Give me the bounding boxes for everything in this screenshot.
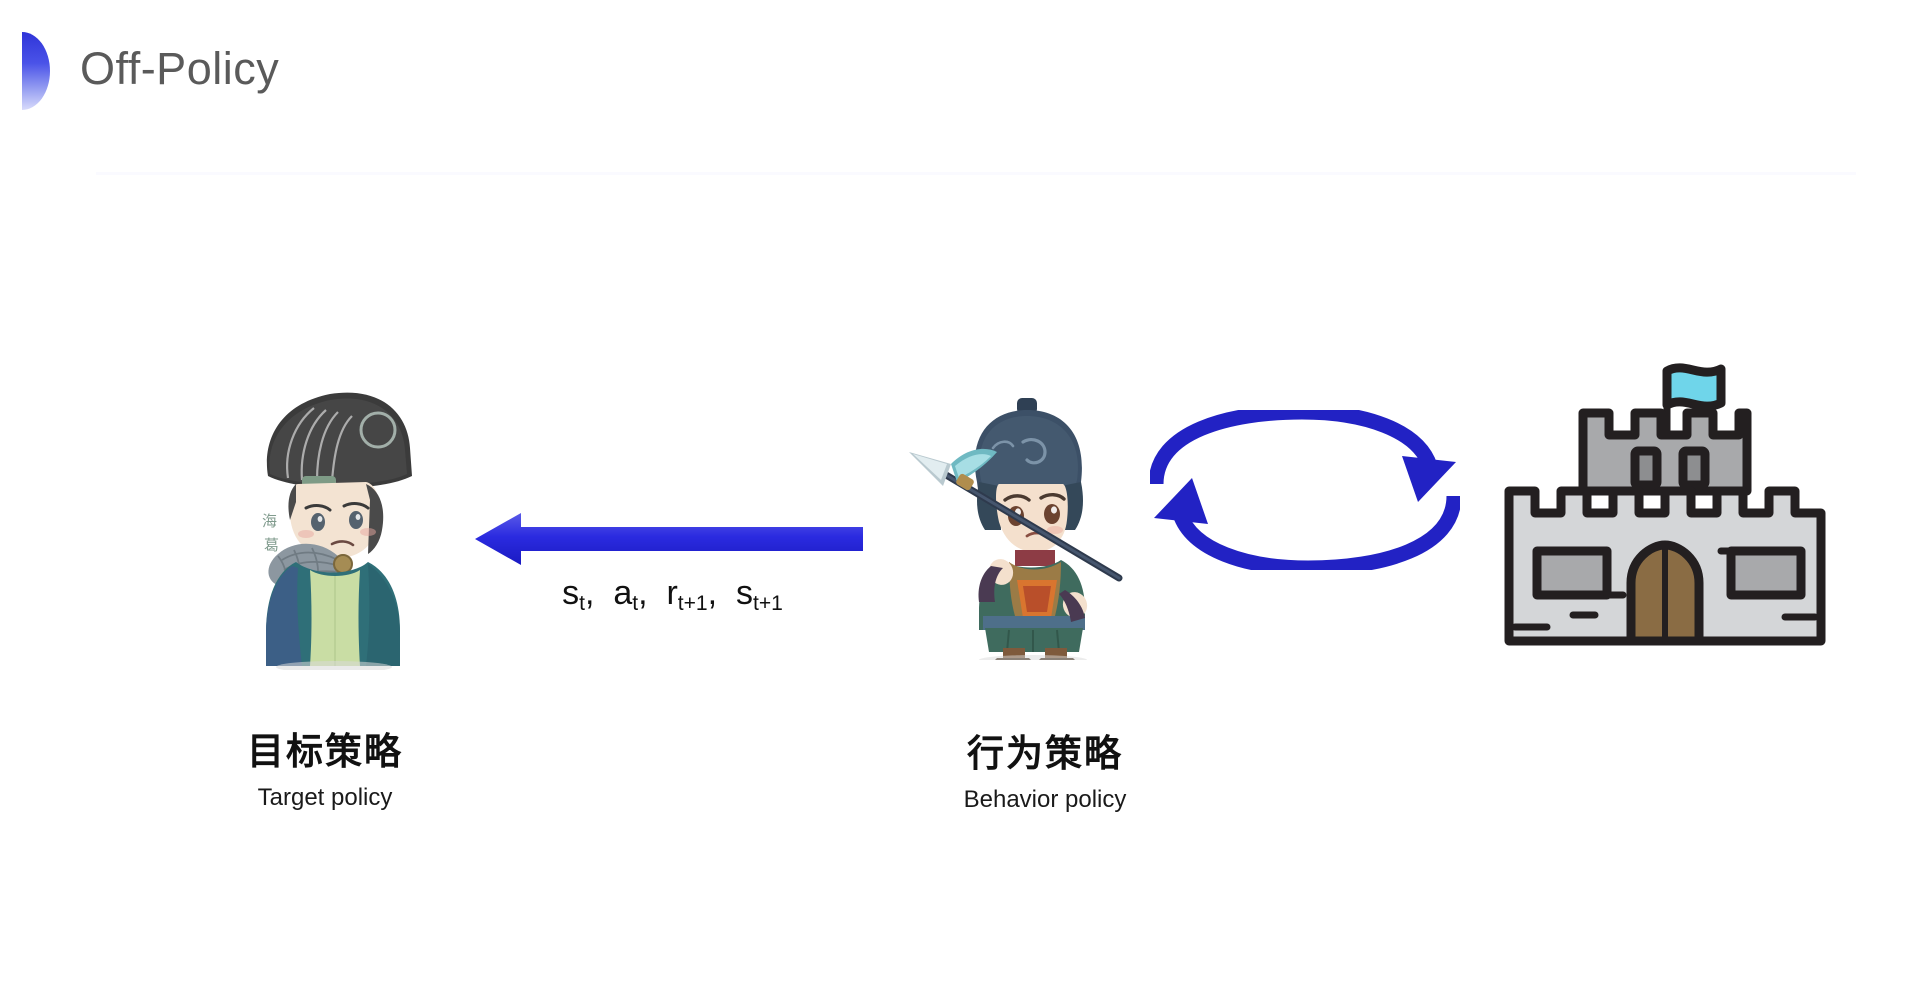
transition-tuple-label: st, at, rt+1, st+1	[480, 574, 865, 616]
caption-behavior-policy: 行为策略 Behavior policy	[920, 732, 1170, 815]
warrior-character-icon	[905, 390, 1145, 660]
formula-sep-1: ,	[585, 574, 613, 612]
caption-behavior-policy-cn: 行为策略	[920, 732, 1170, 776]
caption-target-policy-en: Target policy	[200, 784, 450, 813]
caption-target-policy: 目标策略 Target policy	[200, 730, 450, 813]
strategist-character-icon: 海 葛	[240, 380, 430, 670]
formula-s-t1: st+1	[736, 574, 783, 612]
formula-a-t: at	[613, 574, 638, 612]
formula-sep-3: ,	[708, 574, 736, 612]
slide-canvas: Off-Policy	[0, 0, 1920, 984]
formula-r-t1: rt+1	[666, 574, 707, 612]
half-disc-gradient-bullet-icon	[22, 32, 50, 110]
caption-target-policy-cn: 目标策略	[200, 730, 450, 774]
formula-s-t: st	[562, 574, 585, 612]
page-title: Off-Policy	[80, 44, 279, 94]
formula-sep-2: ,	[638, 574, 666, 612]
two-curved-cycle-arrows-icon	[1150, 410, 1460, 570]
experience-flow-arrow	[475, 508, 863, 570]
caption-behavior-policy-en: Behavior policy	[920, 786, 1170, 815]
diagram-stage: 海 葛	[0, 200, 1920, 984]
castle-icon	[1495, 355, 1835, 655]
svg-text:葛: 葛	[264, 536, 279, 554]
svg-text:海: 海	[262, 512, 277, 530]
header-divider	[96, 172, 1856, 175]
